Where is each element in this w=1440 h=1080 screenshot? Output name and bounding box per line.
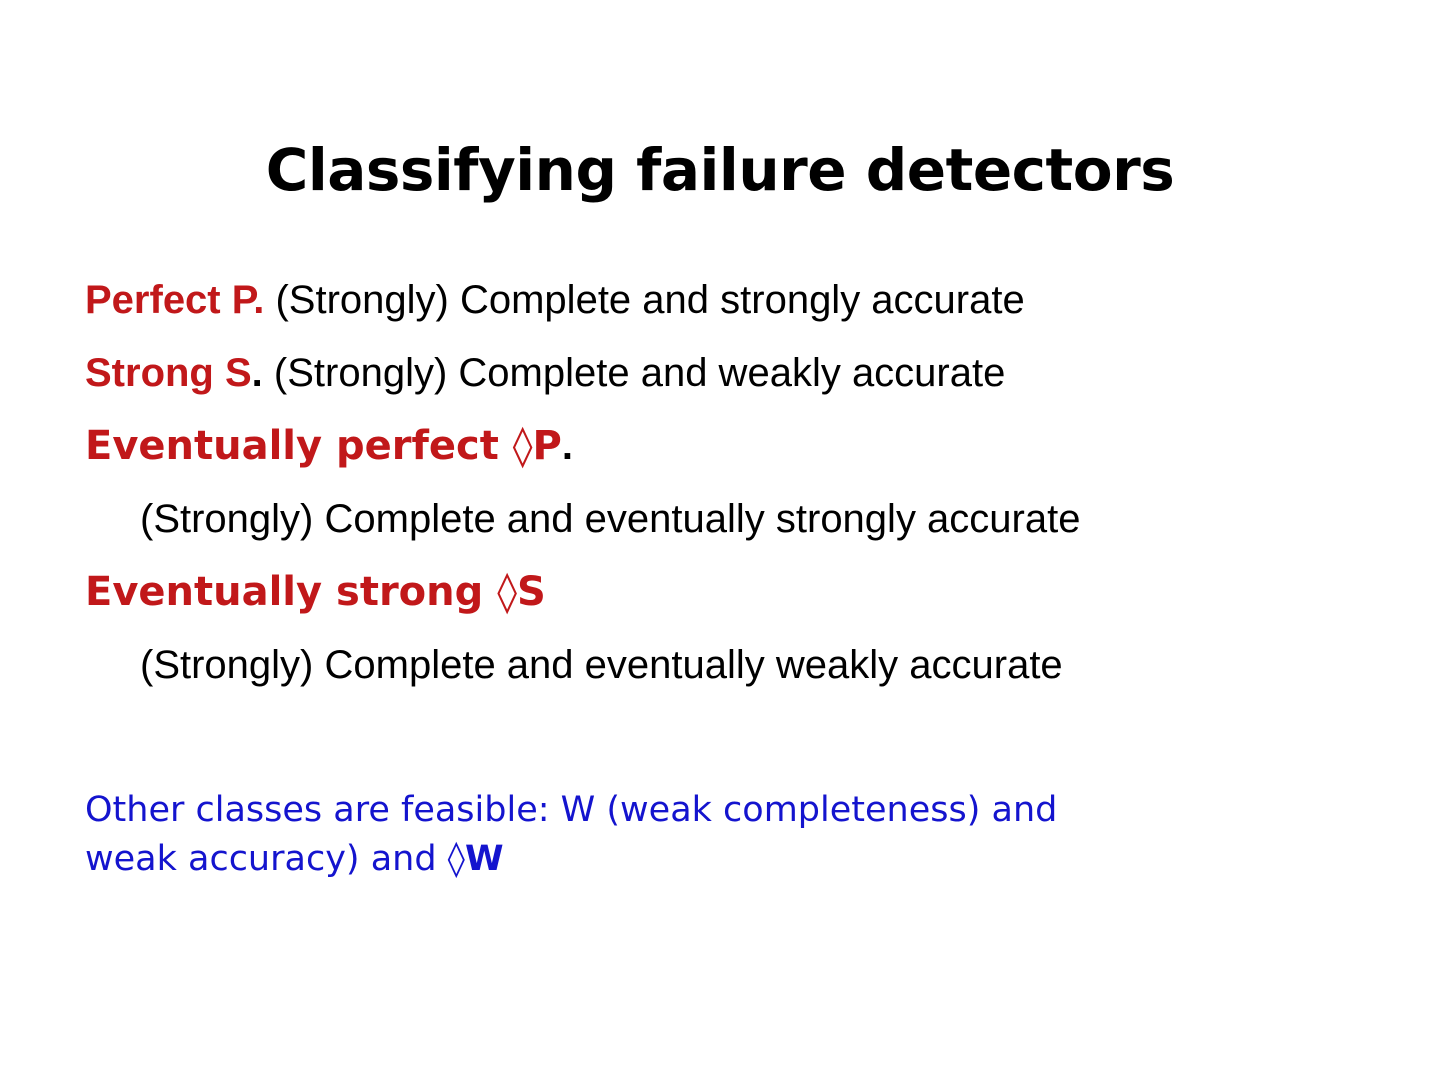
term-punct-strong: . [252, 351, 263, 395]
definition-line-perfect: Perfect P. (Strongly) Complete and stron… [85, 264, 1365, 337]
term-eventually-strong: Eventually strong ◊S [85, 569, 546, 615]
term-eventually-perfect: Eventually perfect ◊P [85, 423, 562, 469]
note-line-1: Other classes are feasible: W (weak comp… [85, 786, 1245, 835]
definition-line-eventually-strong: Eventually strong ◊S [85, 556, 1365, 629]
description-strong: (Strongly) Complete and weakly accurate [263, 351, 1006, 395]
definitions-list: Perfect P. (Strongly) Complete and stron… [85, 264, 1365, 702]
slide: Classifying failure detectors Perfect P.… [0, 0, 1440, 1080]
note-line-2-strong: ◊W [448, 839, 504, 879]
description-perfect: (Strongly) Complete and strongly accurat… [264, 278, 1024, 322]
term-perfect: Perfect P. [85, 278, 264, 322]
description-eventually-strong-line: (Strongly) Complete and eventually weakl… [85, 629, 1365, 702]
description-eventually-perfect-line: (Strongly) Complete and eventually stron… [85, 483, 1365, 556]
term-punct-eventually-perfect: . [562, 424, 573, 468]
note-line-2-prefix: weak accuracy) and [85, 839, 448, 879]
note-paragraph: Other classes are feasible: W (weak comp… [85, 786, 1245, 884]
page-title: Classifying failure detectors [0, 135, 1440, 205]
term-strong: Strong S [85, 351, 252, 395]
description-eventually-strong: (Strongly) Complete and eventually weakl… [140, 643, 1063, 687]
definition-line-eventually-perfect: Eventually perfect ◊P. [85, 410, 1365, 483]
definition-line-strong: Strong S. (Strongly) Complete and weakly… [85, 337, 1365, 410]
note-line-2: weak accuracy) and ◊W [85, 835, 1245, 884]
description-eventually-perfect: (Strongly) Complete and eventually stron… [140, 497, 1080, 541]
